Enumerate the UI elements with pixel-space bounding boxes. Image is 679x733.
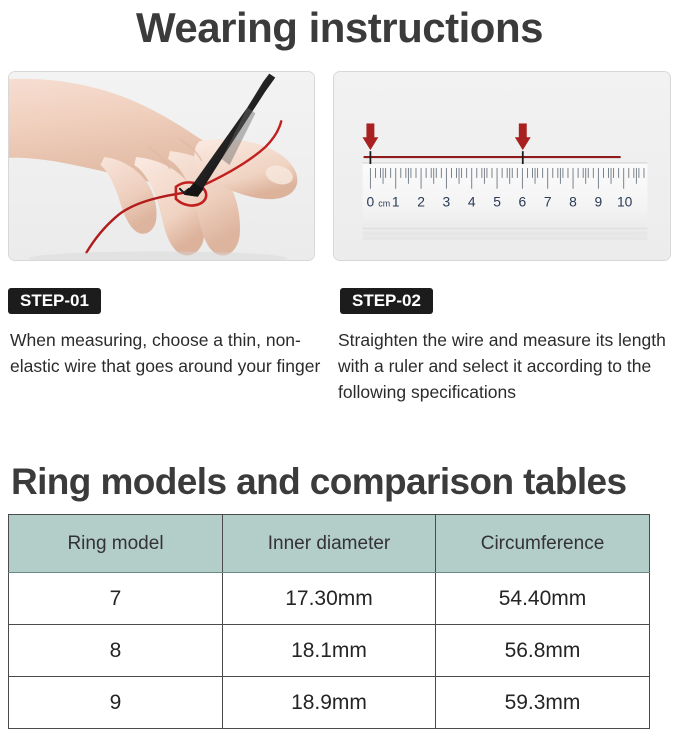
cell-ring-model: 8 — [9, 625, 223, 677]
ruler-tick-3: 3 — [443, 194, 451, 210]
ruler-with-wire-icon: 0 1 2 3 4 5 6 7 8 9 10 cm — [334, 72, 670, 260]
cell-inner-diameter: 18.1mm — [223, 625, 436, 677]
column-header-circumference: Circumference — [436, 515, 650, 573]
step-01-illustration-panel — [8, 71, 315, 261]
table-header-row: Ring model Inner diameter Circumference — [9, 515, 650, 573]
table-row: 9 18.9mm 59.3mm — [9, 677, 650, 729]
ruler-tick-6: 6 — [519, 194, 527, 210]
hand-with-wire-icon — [9, 72, 314, 260]
ruler-unit-label: cm — [378, 199, 390, 209]
step-02-badge: STEP-02 — [340, 288, 433, 314]
table-row: 7 17.30mm 54.40mm — [9, 573, 650, 625]
ruler-tick-5: 5 — [493, 194, 501, 210]
ruler-tick-4: 4 — [468, 194, 476, 210]
step-01-description: When measuring, choose a thin, non-elast… — [10, 327, 326, 379]
step-01-badge: STEP-01 — [8, 288, 101, 314]
step-02-description: Straighten the wire and measure its leng… — [338, 327, 672, 405]
page-title: Wearing instructions — [0, 2, 679, 54]
table-row: 8 18.1mm 56.8mm — [9, 625, 650, 677]
cell-circumference: 59.3mm — [436, 677, 650, 729]
ruler-tick-10: 10 — [617, 194, 633, 210]
wearing-instructions-page: Wearing instructions — [0, 0, 679, 733]
table-section-title: Ring models and comparison tables — [11, 458, 671, 506]
ruler-tick-1: 1 — [392, 194, 400, 210]
column-header-ring-model: Ring model — [9, 515, 223, 573]
cell-circumference: 56.8mm — [436, 625, 650, 677]
cell-ring-model: 7 — [9, 573, 223, 625]
step-02-illustration-panel: 0 1 2 3 4 5 6 7 8 9 10 cm — [333, 71, 671, 261]
ruler-tick-9: 9 — [595, 194, 603, 210]
cell-inner-diameter: 17.30mm — [223, 573, 436, 625]
cell-inner-diameter: 18.9mm — [223, 677, 436, 729]
ruler-tick-0: 0 — [367, 194, 375, 210]
cell-ring-model: 9 — [9, 677, 223, 729]
ruler-tick-2: 2 — [417, 194, 425, 210]
ruler-tick-8: 8 — [569, 194, 577, 210]
ruler-tick-7: 7 — [544, 194, 552, 210]
cell-circumference: 54.40mm — [436, 573, 650, 625]
ring-size-table: Ring model Inner diameter Circumference … — [8, 514, 650, 729]
column-header-inner-diameter: Inner diameter — [223, 515, 436, 573]
